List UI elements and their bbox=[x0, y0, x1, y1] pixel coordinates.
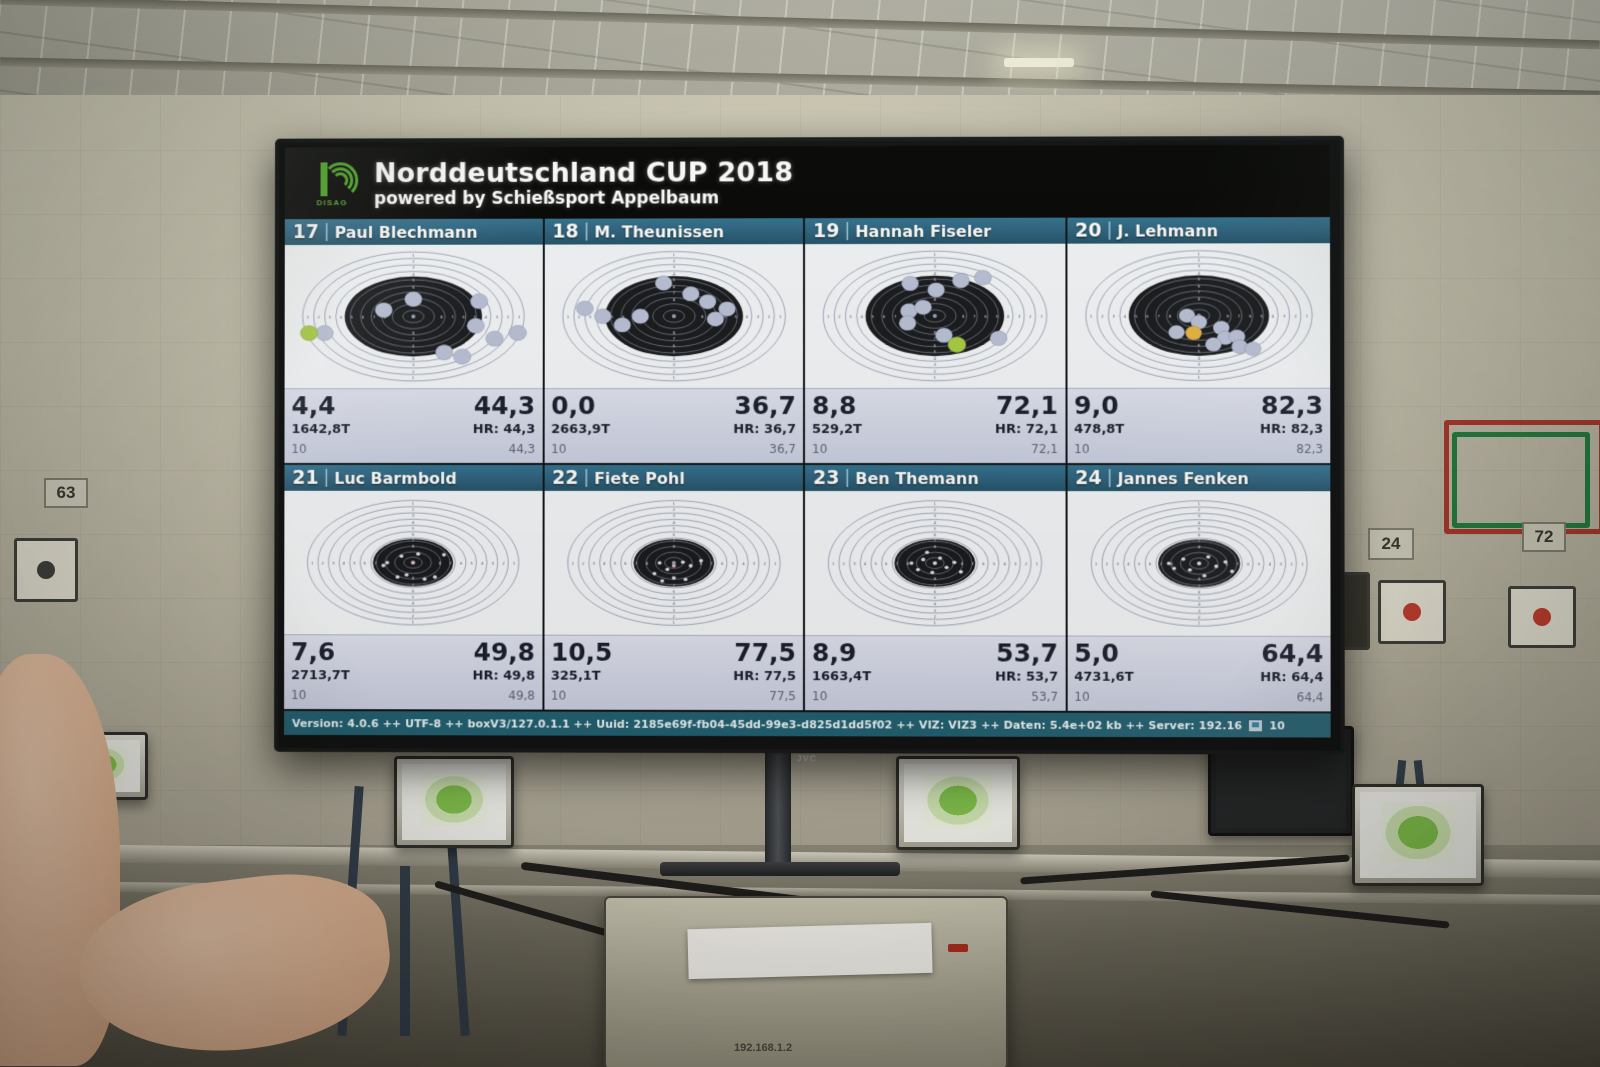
score-panel-19: 8,872,1529,2THR: 72,11072,1 bbox=[805, 388, 1065, 463]
target-center-dot bbox=[411, 315, 415, 319]
range-target-frame bbox=[1342, 572, 1370, 650]
target-ring-label: 4 bbox=[1007, 315, 1010, 319]
target-view-18[interactable]: 11112222333344445555666677778888 bbox=[544, 244, 803, 388]
shot-marker bbox=[405, 292, 423, 307]
shot-count: 10 bbox=[291, 442, 306, 456]
target-ring-label: 4 bbox=[672, 272, 675, 276]
shot-marker bbox=[909, 561, 913, 565]
shot-marker bbox=[470, 294, 488, 309]
shot-marker bbox=[486, 331, 504, 346]
shot-marker bbox=[683, 578, 687, 582]
last-shot-value: 0,0 bbox=[551, 391, 595, 420]
shot-marker bbox=[411, 561, 415, 565]
shot-marker bbox=[706, 312, 723, 327]
total-score-small: 36,7 bbox=[769, 442, 796, 456]
lane-separator: | bbox=[324, 222, 330, 242]
shot-marker bbox=[655, 276, 672, 291]
lane-cell-19[interactable]: 19|Hannah Fiseler11112222333344445555666… bbox=[805, 218, 1067, 465]
target-ring-label: 5 bbox=[672, 596, 675, 600]
target-ring-label: 4 bbox=[412, 520, 415, 524]
target-face: 11112222333344445555666677778888 bbox=[1067, 243, 1330, 388]
target-ring-label: 2 bbox=[1025, 562, 1027, 566]
total-score-value: 49,8 bbox=[474, 638, 535, 667]
shot-marker bbox=[952, 273, 969, 288]
target-center-dot bbox=[1403, 603, 1421, 621]
shot-marker bbox=[652, 572, 656, 576]
lane-monitor-screen bbox=[402, 764, 506, 840]
target-ring-label: 2 bbox=[934, 615, 936, 619]
total-score-small: 64,4 bbox=[1297, 690, 1324, 704]
target-ring-label: 6 bbox=[412, 533, 415, 537]
target-ring-label: 3 bbox=[412, 514, 415, 518]
page-subtitle: powered by Schießsport Appelbaum bbox=[374, 188, 793, 209]
target-ring-label: 3 bbox=[1014, 562, 1017, 566]
target-ring-label: 5 bbox=[1197, 597, 1200, 601]
wall-frame-red bbox=[1444, 420, 1600, 534]
target-ring-label: 5 bbox=[613, 562, 616, 566]
last-shot-value: 5,0 bbox=[1074, 639, 1119, 668]
lane-number: 24 bbox=[1075, 467, 1102, 489]
shot-marker bbox=[1166, 562, 1170, 566]
target-ring-label: 4 bbox=[1268, 562, 1271, 566]
shot-time-value: 2663,9T bbox=[551, 422, 610, 437]
target-ring-label: 2 bbox=[502, 562, 504, 566]
total-score-value: 77,5 bbox=[734, 638, 796, 667]
target-ring-label: 3 bbox=[934, 363, 937, 367]
lane-grid: 17|Paul Blechmann11112222333344445555666… bbox=[284, 217, 1331, 713]
target-ring-label: 2 bbox=[412, 260, 414, 264]
target-ring-label: 5 bbox=[875, 562, 878, 566]
lane-cell-17[interactable]: 17|Paul Blechmann11112222333344445555666… bbox=[284, 219, 544, 465]
shot-time-value: 478,8T bbox=[1074, 422, 1124, 437]
total-score-small: 82,3 bbox=[1296, 442, 1323, 456]
lane-cell-23[interactable]: 23|Ben Themann11112222333344445555666677… bbox=[805, 465, 1067, 713]
shot-marker bbox=[974, 270, 991, 285]
lane-cell-22[interactable]: 22|Fiete Pohl111122223333444455556666777… bbox=[544, 465, 805, 712]
wall-number-center: 24 bbox=[1368, 528, 1414, 560]
hr-value: HR: 49,8 bbox=[473, 668, 535, 683]
target-ring-label: 2 bbox=[934, 370, 936, 374]
lane-separator: | bbox=[1107, 468, 1113, 488]
target-ring-label: 1 bbox=[1197, 376, 1200, 380]
total-score-small: 72,1 bbox=[1031, 442, 1058, 456]
shot-marker bbox=[915, 300, 932, 315]
target-ring-label: 4 bbox=[672, 357, 675, 361]
target-ring-label: 4 bbox=[1197, 357, 1200, 361]
target-ring-label: 4 bbox=[934, 357, 937, 361]
target-ring-label: 3 bbox=[592, 562, 595, 566]
hr-value: HR: 64,4 bbox=[1260, 670, 1323, 685]
target-center-dot bbox=[671, 314, 675, 318]
target-ring-label: 2 bbox=[1197, 259, 1200, 263]
shot-marker bbox=[916, 568, 920, 572]
shot-marker bbox=[928, 283, 945, 298]
target-ring-label: 3 bbox=[329, 315, 332, 319]
last-shot-value: 4,4 bbox=[291, 391, 335, 420]
target-ring-label: 2 bbox=[1197, 370, 1200, 374]
lane-separator: | bbox=[844, 468, 850, 488]
lane-number: 19 bbox=[813, 220, 839, 242]
target-ring-label: 3 bbox=[1197, 363, 1200, 367]
total-score-small: 77,5 bbox=[769, 689, 796, 703]
target-ring-label: 4 bbox=[340, 315, 343, 319]
total-score-small: 49,8 bbox=[508, 689, 535, 703]
shot-marker bbox=[453, 349, 471, 364]
shot-marker bbox=[930, 571, 934, 575]
target-ring-label: 3 bbox=[1116, 562, 1119, 566]
hr-value: HR: 44,3 bbox=[473, 422, 535, 437]
target-ring-label: 6 bbox=[1197, 533, 1200, 537]
range-target-frame bbox=[1508, 586, 1576, 648]
target-ring-label: 1 bbox=[1094, 562, 1097, 566]
target-ring-label: 2 bbox=[581, 562, 583, 566]
shooter-name: J. Lehmann bbox=[1117, 221, 1218, 240]
target-ring-label: 3 bbox=[412, 608, 415, 612]
target-ring-label: 6 bbox=[885, 562, 888, 566]
target-view-17[interactable]: 11112222333344445555666677778888 bbox=[285, 245, 543, 389]
target-ring-label: 1 bbox=[518, 315, 521, 319]
lane-number: 21 bbox=[292, 467, 318, 489]
target-ring-label: 4 bbox=[742, 562, 745, 566]
shot-marker bbox=[660, 579, 664, 583]
shot-marker bbox=[509, 325, 527, 340]
target-ring-label: 3 bbox=[756, 315, 759, 319]
target-ring-label: 1 bbox=[934, 502, 937, 506]
target-ring-label: 5 bbox=[934, 527, 937, 531]
shot-marker bbox=[1205, 337, 1221, 351]
target-ring-label: 4 bbox=[412, 357, 415, 361]
shot-marker bbox=[405, 573, 409, 577]
shot-marker bbox=[594, 309, 611, 324]
score-panel-24: 5,064,44731,6THR: 64,41064,4 bbox=[1067, 636, 1330, 712]
total-score-value: 82,3 bbox=[1261, 391, 1323, 420]
target-ring-label: 3 bbox=[492, 562, 495, 566]
score-panel-20: 9,082,3478,8THR: 82,31082,3 bbox=[1067, 388, 1330, 463]
target-ring-label: 1 bbox=[934, 621, 937, 625]
shot-marker bbox=[698, 559, 702, 563]
target-ring-label: 3 bbox=[1197, 609, 1200, 613]
target-ring-label: 1 bbox=[311, 561, 314, 565]
target-thumbnail bbox=[923, 773, 992, 828]
shot-count: 10 bbox=[551, 442, 566, 456]
shot-marker bbox=[1187, 568, 1191, 572]
shot-marker bbox=[680, 560, 684, 564]
target-ring-label: 2 bbox=[412, 614, 414, 618]
target-ring-label: 3 bbox=[934, 514, 937, 518]
target-ring-label: 1 bbox=[672, 377, 675, 381]
target-ring-label: 1 bbox=[412, 502, 415, 506]
lane-separator: | bbox=[584, 222, 590, 242]
target-ring-label: 6 bbox=[672, 533, 675, 537]
lane-monitor bbox=[1352, 784, 1484, 886]
shot-marker bbox=[682, 286, 699, 301]
shooter-name: Jannes Fenken bbox=[1117, 469, 1248, 488]
target-ring-label: 4 bbox=[1127, 562, 1130, 566]
wall-number-right: 72 bbox=[1522, 522, 1566, 552]
target-ring-label: 1 bbox=[779, 315, 782, 319]
lane-cell-21[interactable]: 21|Luc Barmbold1111222233334444555566667… bbox=[284, 465, 544, 712]
target-ring-label: 1 bbox=[1197, 622, 1200, 626]
target-ring-label: 1 bbox=[672, 502, 675, 506]
total-score-value: 36,7 bbox=[734, 391, 796, 420]
target-ring-label: 6 bbox=[1148, 562, 1151, 566]
target-ring-label: 6 bbox=[982, 562, 985, 566]
lane-header-23: 23|Ben Themann bbox=[805, 465, 1065, 491]
shooter-name: Ben Themann bbox=[855, 469, 979, 488]
shot-count: 10 bbox=[1074, 690, 1089, 704]
target-ring-label: 2 bbox=[672, 508, 674, 512]
score-panel-23: 8,953,71663,4THR: 53,71053,7 bbox=[805, 635, 1065, 711]
wall-number-left: 63 bbox=[44, 478, 88, 508]
target-face: 11112222333344445555666677778888 bbox=[544, 244, 803, 388]
shot-time-value: 529,2T bbox=[812, 422, 862, 437]
score-panel-21: 7,649,82713,7THR: 49,81049,8 bbox=[284, 634, 542, 709]
ceiling-lamp bbox=[1004, 58, 1074, 67]
target-ring-label: 2 bbox=[934, 259, 936, 263]
lane-number: 22 bbox=[552, 467, 578, 489]
target-ring-label: 3 bbox=[1197, 265, 1200, 269]
target-view-22[interactable]: 11112222333344445555666677778888 bbox=[544, 491, 803, 635]
target-ring-label: 3 bbox=[496, 315, 499, 319]
shot-marker bbox=[925, 551, 929, 555]
hr-value: HR: 77,5 bbox=[733, 669, 796, 684]
target-ring-label: 3 bbox=[752, 562, 755, 566]
target-ring-label: 3 bbox=[672, 609, 675, 613]
target-ring-label: 1 bbox=[1036, 562, 1039, 566]
page-title: Norddeutschland CUP 2018 bbox=[374, 157, 793, 189]
status-trailing: 10 bbox=[1269, 719, 1285, 732]
target-ring-label: 5 bbox=[412, 527, 415, 531]
shot-marker bbox=[467, 318, 485, 333]
scoreboard-header: DISAG Norddeutschland CUP 2018 powered b… bbox=[285, 145, 1330, 219]
target-ring-label: 3 bbox=[1112, 315, 1115, 319]
shot-marker bbox=[1181, 557, 1185, 561]
target-ring-label: 2 bbox=[1105, 562, 1108, 566]
shot-count: 10 bbox=[812, 689, 827, 703]
shot-time-value: 4731,6T bbox=[1074, 670, 1133, 685]
target-ring-label: 2 bbox=[763, 562, 765, 566]
target-ring-label: 1 bbox=[412, 621, 415, 625]
target-ring-label: 1 bbox=[774, 562, 777, 566]
target-ring-label: 1 bbox=[832, 562, 835, 566]
shooter-name: Fiete Pohl bbox=[594, 468, 685, 487]
shot-count: 10 bbox=[551, 689, 566, 703]
target-center-dot bbox=[37, 561, 55, 579]
shot-marker bbox=[613, 317, 630, 332]
target-ring-label: 3 bbox=[412, 364, 415, 368]
target-ring-label: 2 bbox=[318, 315, 320, 319]
target-face: 11112222333344445555666677778888 bbox=[544, 491, 803, 635]
hr-value: HR: 82,3 bbox=[1260, 422, 1323, 437]
target-ring-label: 3 bbox=[849, 315, 852, 319]
lane-separator: | bbox=[1107, 221, 1113, 241]
total-score-value: 44,3 bbox=[474, 391, 535, 420]
shot-marker bbox=[375, 302, 393, 317]
target-ring-label: 4 bbox=[485, 315, 488, 319]
shot-marker bbox=[1172, 567, 1176, 571]
shot-marker bbox=[1229, 570, 1233, 574]
lane-monitor bbox=[394, 756, 514, 848]
shot-time-value: 1642,8T bbox=[291, 422, 350, 437]
target-ring-label: 1 bbox=[1305, 314, 1308, 318]
target-ring-label: 1 bbox=[1301, 562, 1304, 566]
target-ring-label: 2 bbox=[672, 615, 674, 619]
target-ring-label: 3 bbox=[1279, 562, 1282, 566]
shot-marker bbox=[990, 331, 1007, 346]
shot-marker bbox=[300, 325, 318, 340]
shot-marker bbox=[1197, 562, 1201, 566]
total-score-value: 64,4 bbox=[1261, 639, 1323, 668]
target-ring-label: 1 bbox=[1197, 252, 1200, 256]
lane-monitor bbox=[896, 756, 1020, 850]
target-ring-label: 4 bbox=[672, 521, 675, 525]
target-view-23[interactable]: 11112222333344445555666677778888 bbox=[805, 491, 1065, 636]
tripod-leg bbox=[400, 866, 410, 1036]
target-ring-label: 2 bbox=[838, 315, 840, 319]
target-ring-label: 1 bbox=[571, 562, 574, 566]
target-ring-label: 1 bbox=[672, 253, 675, 257]
total-score-small: 53,7 bbox=[1031, 690, 1058, 704]
last-shot-value: 10,5 bbox=[551, 638, 612, 667]
printer-paper bbox=[687, 923, 932, 979]
target-ring-label: 2 bbox=[1101, 315, 1104, 319]
title-block: Norddeutschland CUP 2018 powered by Schi… bbox=[374, 157, 793, 209]
target-ring-label: 2 bbox=[934, 508, 936, 512]
score-panel-22: 10,577,5325,1THR: 77,51077,5 bbox=[544, 635, 803, 711]
target-ring-label: 3 bbox=[1197, 515, 1200, 519]
tv-stand-foot bbox=[660, 862, 900, 876]
shot-marker bbox=[395, 575, 399, 579]
target-ring-label: 1 bbox=[1089, 315, 1092, 319]
target-ring-label: 2 bbox=[412, 508, 414, 512]
range-target-frame bbox=[1378, 580, 1446, 644]
score-panel-17: 4,444,31642,8THR: 44,31044,3 bbox=[284, 388, 542, 463]
target-ring-label: 3 bbox=[412, 266, 415, 270]
target-view-24[interactable]: 11112222333344445555666677778888 bbox=[1067, 491, 1330, 636]
target-ring-label: 3 bbox=[672, 364, 675, 368]
target-ring-label: 2 bbox=[672, 259, 674, 263]
target-ring-label: 1 bbox=[827, 315, 830, 319]
target-ring-label: 4 bbox=[412, 602, 415, 606]
target-center-dot bbox=[1533, 608, 1551, 626]
last-shot-value: 8,8 bbox=[812, 391, 856, 420]
status-text: Version: 4.0.6 ++ UTF-8 ++ boxV3/127.0.1… bbox=[292, 716, 1242, 731]
shot-marker bbox=[902, 276, 919, 291]
lane-separator: | bbox=[324, 468, 330, 488]
target-ring-label: 4 bbox=[672, 602, 675, 606]
target-ring-label: 5 bbox=[672, 527, 675, 531]
shot-marker bbox=[699, 294, 716, 309]
target-ring-label: 5 bbox=[1257, 562, 1260, 566]
shot-marker bbox=[435, 345, 453, 360]
shot-count: 10 bbox=[1074, 442, 1089, 456]
score-panel-18: 0,036,72663,9THR: 36,71036,7 bbox=[544, 388, 803, 463]
target-ring-label: 1 bbox=[1197, 502, 1200, 506]
last-shot-value: 8,9 bbox=[812, 638, 856, 667]
shot-marker bbox=[442, 553, 446, 557]
shot-marker bbox=[399, 554, 403, 558]
target-ring-label: 5 bbox=[993, 562, 996, 566]
target-thumbnail bbox=[1381, 802, 1455, 862]
lane-separator: | bbox=[583, 468, 589, 488]
shot-marker bbox=[381, 564, 385, 568]
target-ring-label: 2 bbox=[1197, 616, 1200, 620]
lane-header-22: 22|Fiete Pohl bbox=[544, 465, 803, 491]
shot-marker bbox=[1244, 342, 1260, 356]
shot-marker bbox=[1185, 326, 1201, 340]
shot-marker bbox=[688, 564, 692, 568]
target-ring-label: 4 bbox=[1271, 314, 1274, 318]
shot-marker bbox=[671, 564, 675, 568]
shot-marker bbox=[665, 568, 669, 572]
shot-marker bbox=[1214, 565, 1218, 569]
target-ring-label: 2 bbox=[672, 370, 674, 374]
target-ring-label: 3 bbox=[672, 266, 675, 270]
target-view-21[interactable]: 11112222333344445555666677778888 bbox=[284, 491, 542, 635]
lane-header-24: 24|Jannes Fenken bbox=[1067, 465, 1330, 491]
shooter-name: Paul Blechmann bbox=[335, 222, 478, 241]
shot-marker bbox=[921, 558, 925, 562]
lane-header-21: 21|Luc Barmbold bbox=[284, 465, 542, 491]
target-ring-label: 6 bbox=[364, 561, 367, 565]
target-face: 11112222333344445555666677778888 bbox=[805, 491, 1065, 636]
target-view-19[interactable]: 11112222333344445555666677778888 bbox=[805, 244, 1065, 388]
hr-value: HR: 72,1 bbox=[995, 422, 1058, 437]
target-ring-label: 3 bbox=[588, 315, 591, 319]
shot-marker bbox=[423, 577, 427, 581]
lane-cell-24[interactable]: 24|Jannes Fenken111122223333444455556666… bbox=[1067, 465, 1331, 713]
shot-marker bbox=[671, 576, 675, 580]
tv-stand-pole bbox=[765, 745, 791, 865]
lane-cell-18[interactable]: 18|M. Theunissen111122223333444455556666… bbox=[544, 218, 805, 465]
target-ring-label: 5 bbox=[934, 596, 937, 600]
shot-marker bbox=[959, 570, 963, 574]
lane-cell-20[interactable]: 20|J. Lehmann111122223333444455556666777… bbox=[1067, 217, 1330, 465]
lane-number: 23 bbox=[813, 467, 839, 489]
target-ring-label: 5 bbox=[1137, 562, 1140, 566]
lane-header-19: 19|Hannah Fiseler bbox=[805, 218, 1065, 244]
shot-marker bbox=[433, 575, 437, 579]
target-ring-label: 4 bbox=[1197, 272, 1200, 276]
target-ring-label: 1 bbox=[412, 253, 415, 257]
shot-marker bbox=[385, 561, 389, 565]
tv-brand-label: JVC bbox=[797, 753, 818, 763]
target-view-20[interactable]: 11112222333344445555666677778888 bbox=[1067, 243, 1330, 388]
shooter-name: M. Theunissen bbox=[594, 222, 724, 241]
shot-marker bbox=[933, 561, 937, 565]
target-ring-label: 1 bbox=[934, 253, 937, 257]
shot-count: 10 bbox=[812, 442, 827, 456]
lane-number: 18 bbox=[552, 221, 578, 243]
shot-marker bbox=[657, 561, 661, 565]
shot-marker bbox=[631, 309, 648, 324]
target-center-dot bbox=[933, 314, 937, 318]
status-bar: Version: 4.0.6 ++ UTF-8 ++ boxV3/127.0.1… bbox=[284, 711, 1331, 738]
target-ring-label: 4 bbox=[603, 562, 606, 566]
target-ring-label: 3 bbox=[934, 265, 937, 269]
target-ring-label: 5 bbox=[412, 596, 415, 600]
target-ring-label: 2 bbox=[1197, 508, 1200, 512]
target-ring-label: 1 bbox=[412, 377, 415, 381]
shot-marker bbox=[1206, 555, 1210, 559]
target-ring-label: 4 bbox=[1197, 603, 1200, 607]
lane-number: 20 bbox=[1075, 220, 1102, 242]
range-target-frame bbox=[14, 538, 78, 602]
shot-marker bbox=[948, 337, 966, 353]
target-ring-label: 2 bbox=[1294, 314, 1297, 318]
shooter-name: Luc Barmbold bbox=[334, 468, 457, 487]
target-ring-label: 1 bbox=[672, 621, 675, 625]
